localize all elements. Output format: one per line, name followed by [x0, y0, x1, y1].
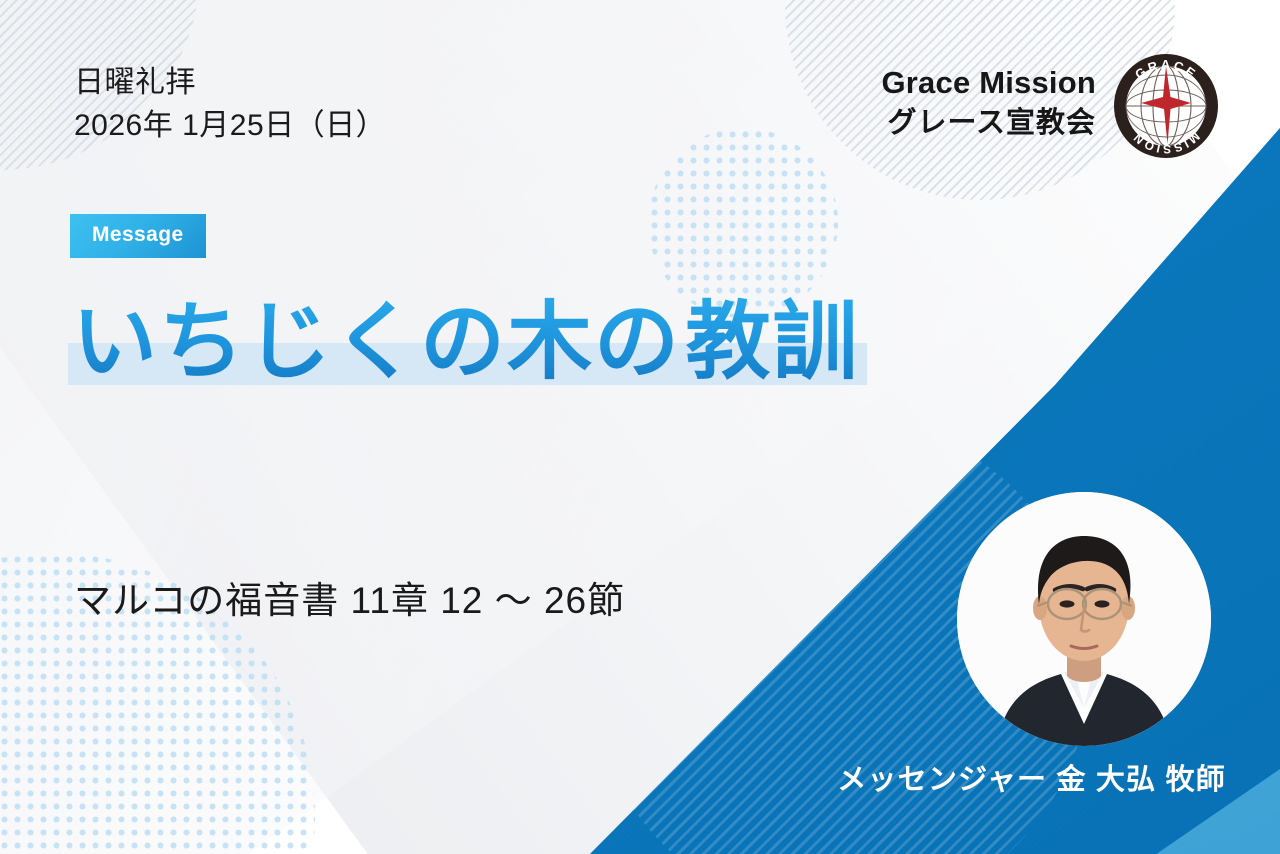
sermon-title-line-1: いちじくの木の — [72, 294, 681, 393]
sermon-title-line-2-text: 教訓 — [685, 295, 859, 390]
scripture-reference: マルコの福音書 11章 12 〜 26節 — [74, 570, 625, 624]
sermon-title-line-2: 教訓 — [685, 294, 859, 393]
brand-name: Grace Mission グレース宣教会 — [881, 62, 1096, 142]
sermon-title-slide: 日曜礼拝 2026年 1月25日（日） Grace Mission グレース宣教… — [0, 0, 1280, 854]
sermon-title: いちじくの木の 教訓 — [72, 272, 859, 393]
speaker-avatar — [957, 492, 1211, 746]
brand-name-japanese: グレース宣教会 — [881, 104, 1096, 143]
grace-mission-logo-icon: GRACE MISSION — [1107, 47, 1225, 165]
service-type: 日曜礼拝 — [74, 62, 386, 105]
service-info: 日曜礼拝 2026年 1月25日（日） — [74, 62, 386, 147]
message-badge: Message — [70, 214, 206, 258]
messenger-credit: メッセンジャー 金 大弘 牧師 — [837, 756, 1226, 798]
sermon-title-line-1-text: いちじくの木の — [72, 295, 681, 390]
brand-name-english: Grace Mission — [881, 62, 1096, 104]
service-date: 2026年 1月25日（日） — [74, 105, 386, 148]
